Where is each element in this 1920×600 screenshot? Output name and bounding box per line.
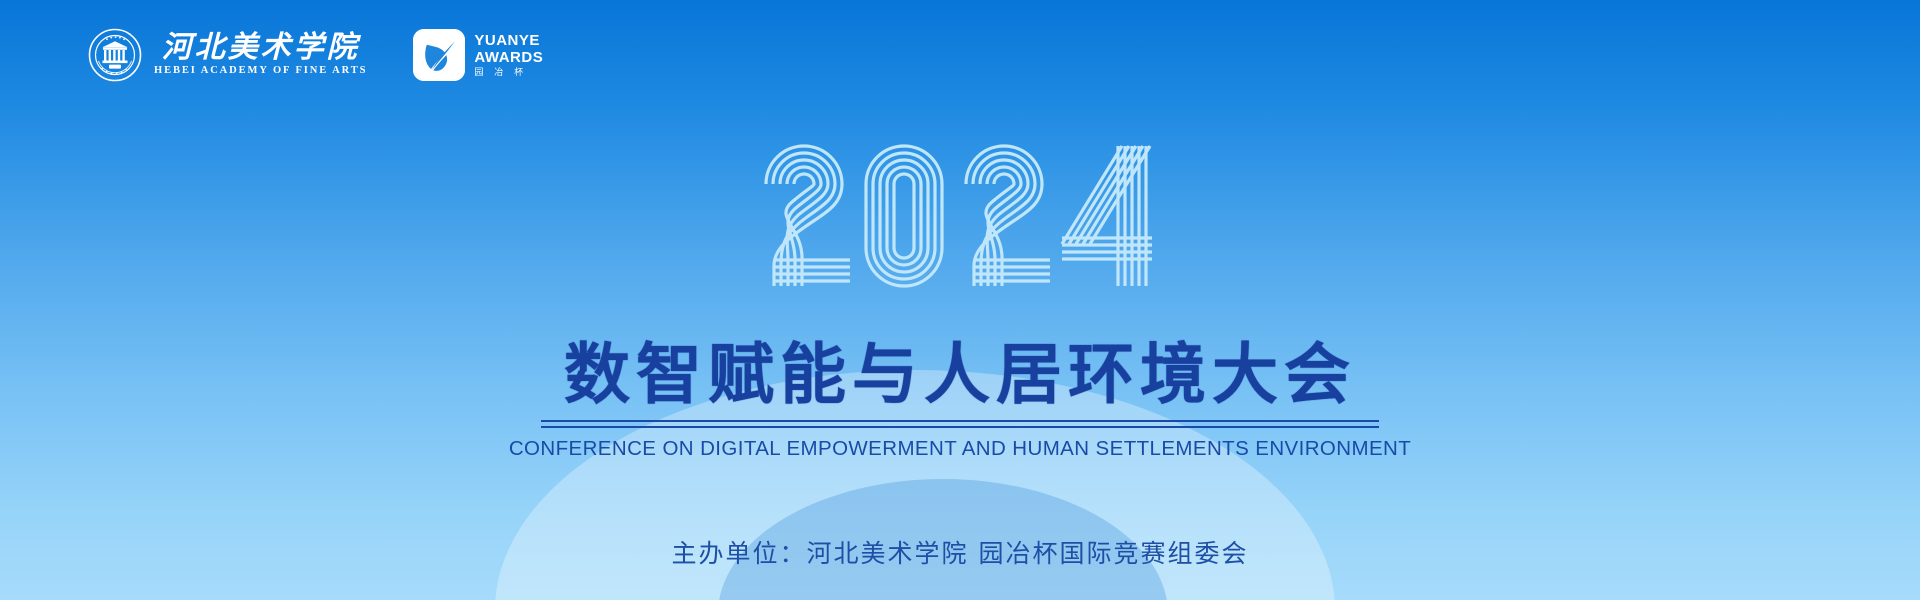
logo-row: 河北美术学院 HEBEI ACADEMY OF FINE ARTS YUANYE… [88,28,543,82]
conference-banner: 河北美术学院 HEBEI ACADEMY OF FINE ARTS YUANYE… [0,0,1920,600]
hebei-academy-of-fine-arts-logo[interactable]: 河北美术学院 HEBEI ACADEMY OF FINE ARTS [88,28,367,82]
year-2024-svg [760,140,1160,290]
yuanye-line1: YUANYE [474,33,543,48]
hebei-logo-text: 河北美术学院 HEBEI ACADEMY OF FINE ARTS [154,33,367,77]
yuanye-logo-text: YUANYE AWARDS 园 冶 杯 [474,33,543,78]
hebei-chinese-name: 河北美术学院 [162,33,360,63]
yuanye-chinese-name: 园 冶 杯 [474,69,543,78]
conference-title-english: CONFERENCE ON DIGITAL EMPOWERMENT AND HU… [509,437,1411,461]
circular-seal-icon [88,28,142,82]
organizer-line: 主办单位：河北美术学院 园冶杯国际竞赛组委会 [0,534,1920,570]
yuanye-line2: AWARDS [474,50,543,65]
divider-line-top [541,420,1379,422]
hebei-english-name: HEBEI ACADEMY OF FINE ARTS [154,66,367,77]
title-divider [541,420,1379,428]
conference-title-chinese: 数智赋能与人居环境大会 [564,338,1356,412]
title-block: 数智赋能与人居环境大会 CONFERENCE ON DIGITAL EMPOWE… [0,338,1920,461]
divider-line-bottom [541,426,1379,428]
yuanye-awards-logo[interactable]: YUANYE AWARDS 园 冶 杯 [413,29,543,81]
year-graphic [0,140,1920,290]
yuanye-leaf-mark-icon [413,29,465,81]
